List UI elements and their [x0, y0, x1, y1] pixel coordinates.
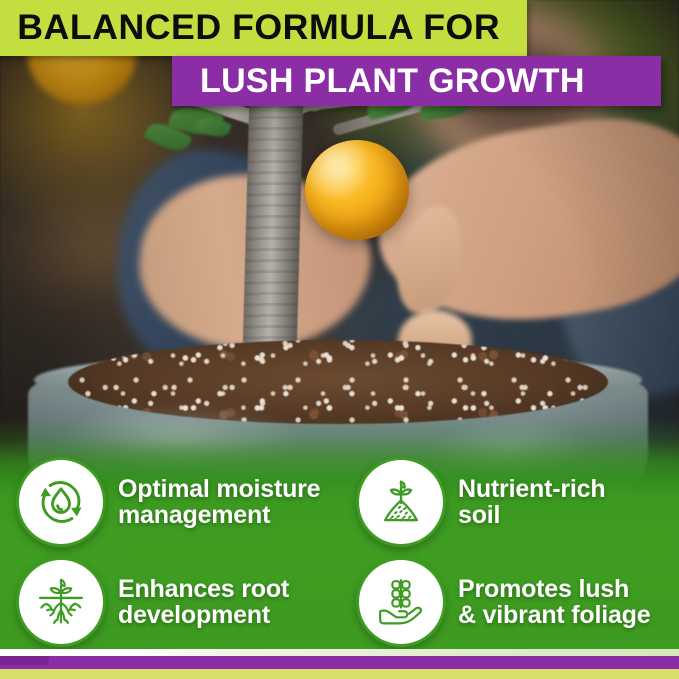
headline-banner-secondary: LUSH PLANT GROWTH — [172, 56, 661, 106]
feature-label-line-2: soil — [458, 502, 605, 529]
product-lifestyle-ad: BALANCED FORMULA FOR LUSH PLANT GROWTH — [0, 0, 679, 679]
feature-item-optimal-moisture: Optimal moisture management — [0, 452, 340, 552]
feature-label: Nutrient-rich soil — [458, 476, 605, 529]
feature-label-line-1: Promotes lush — [458, 575, 629, 603]
headline-line-2: LUSH PLANT GROWTH — [200, 62, 585, 101]
headline-line-1: BALANCED FORMULA FOR — [17, 8, 500, 48]
feature-item-promotes-lush-foliage: Promotes lush & vibrant foliage — [340, 552, 679, 652]
feature-label-line-2: management — [118, 502, 320, 529]
feature-label-line-1: Nutrient-rich — [458, 475, 605, 503]
feature-item-nutrient-rich-soil: Nutrient-rich soil — [340, 452, 679, 552]
features-grid: Optimal moisture management — [0, 452, 679, 652]
feature-label: Optimal moisture management — [118, 476, 320, 529]
feature-label-line-2: & vibrant foliage — [458, 602, 650, 629]
water-droplet-recycle-icon — [16, 457, 106, 547]
hand-holding-foliage-icon — [356, 557, 446, 647]
feature-label: Enhances root development — [118, 576, 289, 629]
feature-label-line-1: Optimal moisture — [118, 475, 320, 503]
feature-label-line-1: Enhances root — [118, 575, 289, 603]
feature-label-line-2: development — [118, 602, 289, 629]
footer-stripe-purple — [0, 656, 679, 669]
feature-item-enhances-root-development: Enhances root development — [0, 552, 340, 652]
feature-label: Promotes lush & vibrant foliage — [458, 576, 650, 629]
footer-stripe-yellow — [0, 669, 679, 679]
headline-banner-primary: BALANCED FORMULA FOR — [0, 0, 527, 56]
plant-roots-icon — [16, 557, 106, 647]
footer-stripe-notch — [40, 656, 62, 665]
seedling-soil-mound-icon — [356, 457, 446, 547]
